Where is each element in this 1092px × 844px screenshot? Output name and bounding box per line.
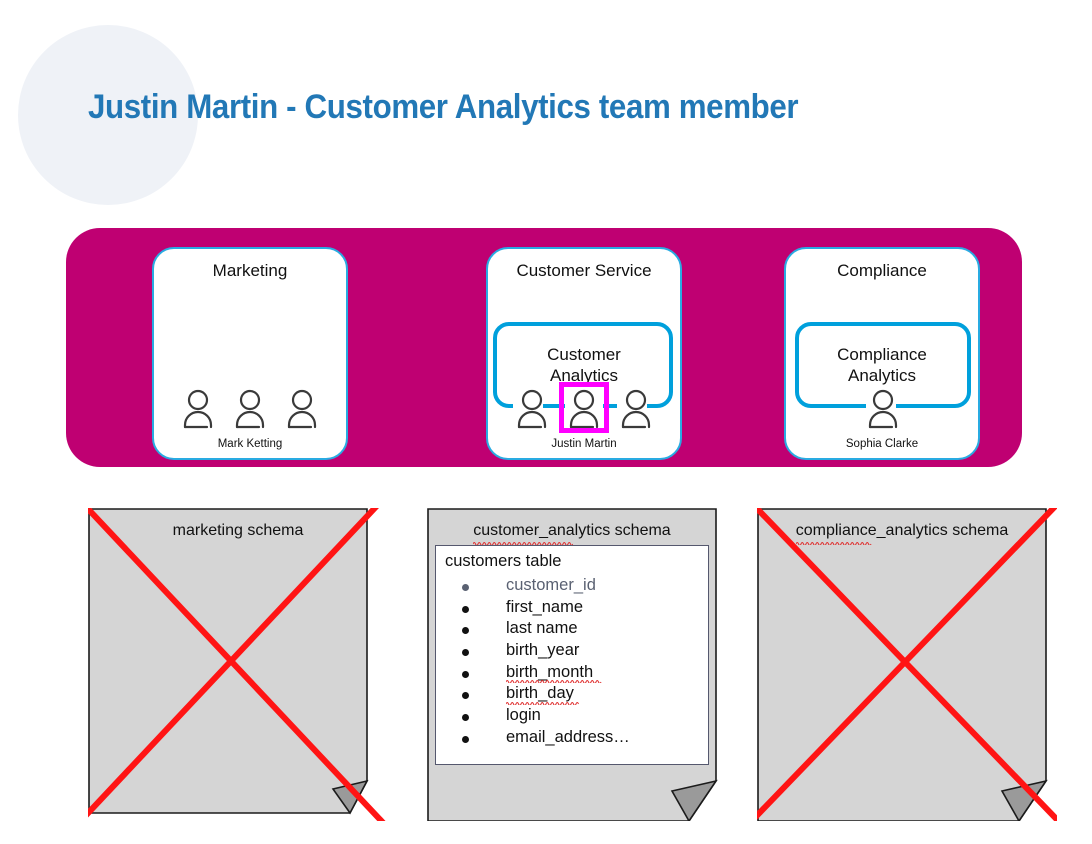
person-icon[interactable] [866, 389, 900, 429]
bullet-icon [462, 649, 469, 656]
document-shape [88, 508, 388, 821]
department-title: Marketing [154, 261, 346, 281]
schema-title: marketing schema [88, 522, 388, 540]
person-icon[interactable] [515, 389, 549, 429]
document-shape [757, 508, 1057, 821]
person-icon[interactable] [233, 389, 267, 429]
person-name-label: Mark Ketting [152, 438, 348, 450]
bullet-icon [462, 714, 469, 721]
bullet-icon [462, 692, 469, 699]
column-item[interactable]: email_address… [452, 728, 630, 750]
person-icon[interactable] [285, 389, 319, 429]
column-item[interactable]: birth_month [452, 663, 630, 685]
spellcheck-underline-icon [796, 541, 896, 545]
bullet-icon [462, 671, 469, 678]
column-label: birth_day [506, 684, 574, 702]
column-item[interactable]: login [452, 706, 630, 728]
slide-canvas: Justin Martin - Customer Analytics team … [0, 0, 1092, 844]
bullet-icon [462, 584, 469, 591]
schema-title: customer_analytics schema [427, 522, 717, 540]
column-item[interactable]: birth_day [452, 684, 630, 706]
schema-title-text: compliance_analytics schema [796, 522, 1009, 539]
person-name-label: Justin Martin [486, 438, 682, 450]
bullet-icon [462, 606, 469, 613]
table-name: customers table [445, 552, 561, 571]
bullet-icon [462, 736, 469, 743]
schema-title: compliance_analytics schema [757, 522, 1047, 540]
column-label: customer_id [506, 576, 596, 594]
spellcheck-underline-icon [506, 701, 580, 705]
column-item[interactable]: birth_year [452, 641, 630, 663]
column-label: last name [506, 619, 578, 637]
schema-document-customer-analytics[interactable]: customer_analytics schema customers tabl… [427, 508, 727, 821]
bullet-icon [462, 627, 469, 634]
schema-document-marketing[interactable]: marketing schema [88, 508, 388, 821]
column-label: email_address… [506, 728, 630, 746]
column-item[interactable]: customer_id [452, 576, 630, 598]
department-title: Compliance [786, 261, 978, 281]
column-label: first_name [506, 598, 583, 616]
spellcheck-underline-icon [506, 679, 602, 683]
selection-highlight-justin-martin [559, 382, 609, 433]
column-label: birth_month [506, 663, 593, 681]
person-icon[interactable] [181, 389, 215, 429]
page-title: Justin Martin - Customer Analytics team … [88, 88, 798, 127]
schema-title-text: customer_analytics schema [473, 522, 670, 539]
column-label: login [506, 706, 541, 724]
schema-document-compliance-analytics[interactable]: compliance_analytics schema [757, 508, 1057, 821]
column-list: customer_id first_name last name birth_y… [452, 576, 630, 750]
schema-table-panel: customers table customer_id first_name l… [435, 545, 709, 765]
column-item[interactable]: first_name [452, 598, 630, 620]
column-item[interactable]: last name [452, 619, 630, 641]
department-title: Customer Service [488, 261, 680, 281]
person-icon[interactable] [619, 389, 653, 429]
person-name-label: Sophia Clarke [784, 438, 980, 450]
column-label: birth_year [506, 641, 579, 659]
